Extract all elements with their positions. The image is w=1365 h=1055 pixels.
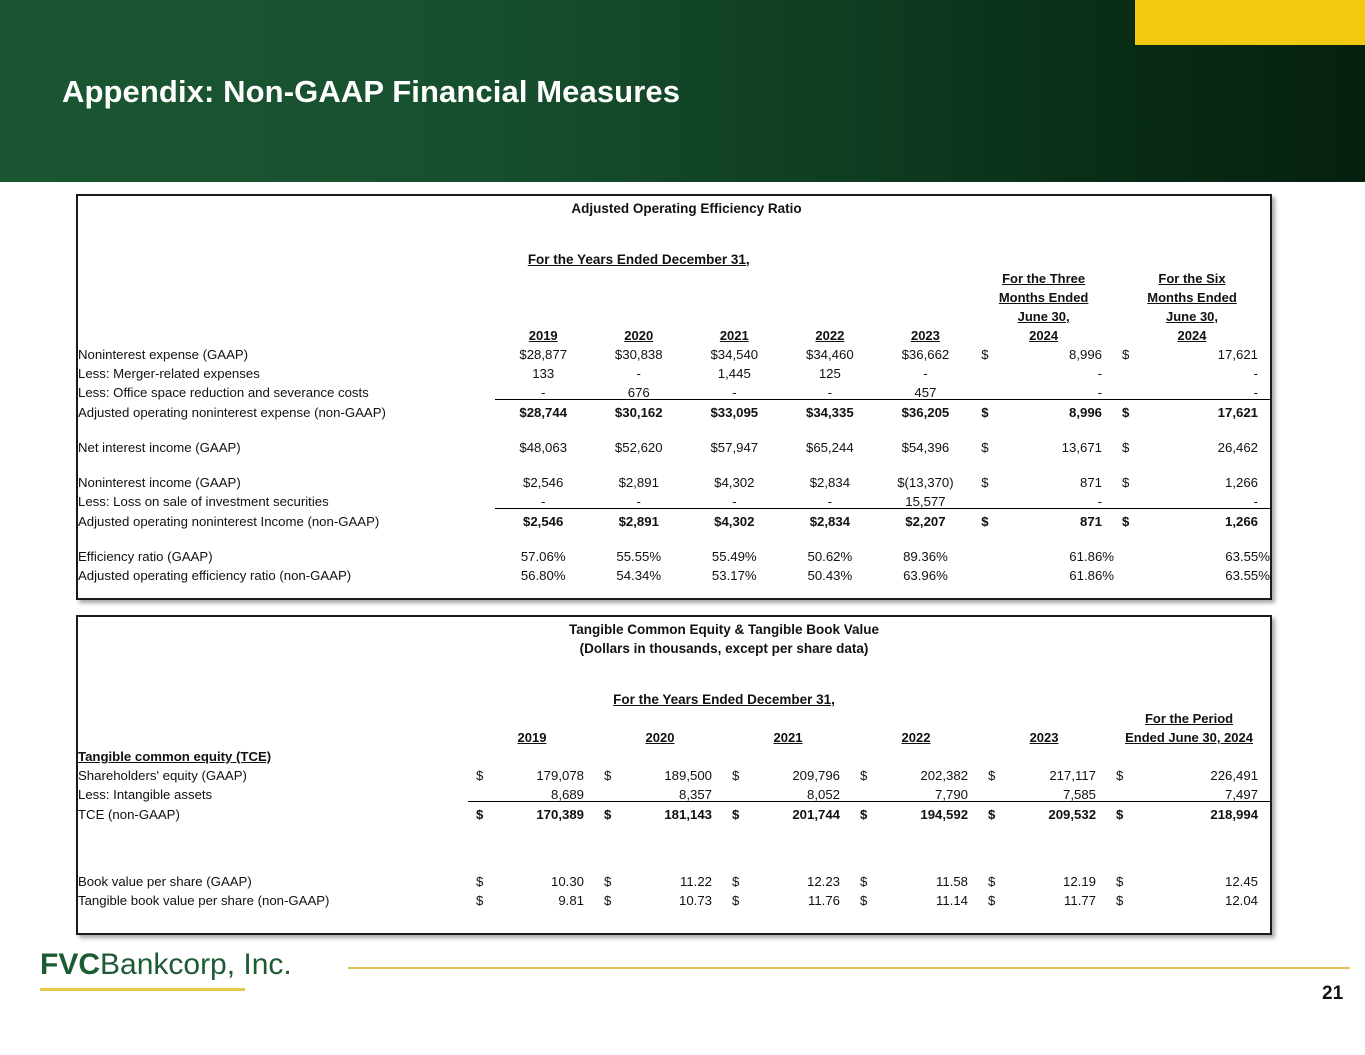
currency-symbol: $ bbox=[860, 894, 867, 907]
currency-symbol: $ bbox=[988, 808, 995, 821]
cell-value: - bbox=[973, 495, 1114, 508]
table-row: Net interest income (GAAP) $48,063 $52,6… bbox=[78, 435, 1270, 454]
cell-value: 12.45 bbox=[1108, 875, 1270, 888]
cell-2020: $ 11.22 bbox=[596, 869, 724, 888]
currency-symbol: $ bbox=[732, 894, 739, 907]
adjusted-operating-efficiency-ratio-table: Adjusted Operating Efficiency Ratio For … bbox=[76, 194, 1272, 600]
cell-2021: $ 209,796 bbox=[724, 763, 852, 782]
currency-symbol: $ bbox=[981, 441, 988, 454]
cell-value: 12.19 bbox=[980, 875, 1108, 888]
currency-symbol: $ bbox=[988, 769, 995, 782]
currency-symbol: $ bbox=[988, 894, 995, 907]
cell-2022: $ 11.58 bbox=[852, 869, 980, 888]
cell-2021: 1,445 bbox=[687, 361, 783, 380]
table1-span-header-line3: June 30, June 30, bbox=[78, 304, 1270, 323]
cell-value: 218,994 bbox=[1108, 808, 1270, 821]
currency-symbol: $ bbox=[1116, 769, 1123, 782]
period-col-header-l1: For the Period bbox=[1108, 706, 1270, 725]
cell-value: 871 bbox=[973, 476, 1114, 489]
cell-2023: $36,662 bbox=[878, 342, 974, 361]
six-month-header-l2: Months Ended bbox=[1114, 285, 1270, 304]
currency-symbol: $ bbox=[732, 875, 739, 888]
cell-value: 8,689 bbox=[468, 788, 596, 801]
cell-2020: $ 189,500 bbox=[596, 763, 724, 782]
cell-2023: 7,585 bbox=[980, 782, 1108, 802]
currency-symbol: $ bbox=[1116, 894, 1123, 907]
cell-value: 12.23 bbox=[724, 875, 852, 888]
cell-value: 13,671 bbox=[973, 441, 1114, 454]
cell-2023: 457 bbox=[878, 380, 974, 400]
cell-value: 217,117 bbox=[980, 769, 1108, 782]
cell-6mo: - bbox=[1114, 380, 1270, 400]
logo-fvc-text: FVC bbox=[40, 948, 100, 981]
row-label: Efficiency ratio (GAAP) bbox=[78, 544, 495, 563]
cell-value: 202,382 bbox=[852, 769, 980, 782]
cell-2019: $2,546 bbox=[495, 509, 591, 529]
table2-section-label-row: Tangible common equity (TCE) bbox=[78, 744, 1270, 763]
cell-2023: $ 217,117 bbox=[980, 763, 1108, 782]
row-label: Adjusted operating noninterest expense (… bbox=[78, 400, 495, 420]
cell-2020: $2,891 bbox=[591, 470, 687, 489]
currency-symbol: $ bbox=[860, 769, 867, 782]
cell-2019: - bbox=[495, 489, 591, 509]
cell-6mo: - bbox=[1114, 361, 1270, 380]
cell-value: 871 bbox=[973, 515, 1114, 528]
cell-3mo: $ 8,996 bbox=[973, 400, 1114, 420]
six-month-header-l3: June 30, bbox=[1114, 304, 1270, 323]
cell-2022: $34,460 bbox=[782, 342, 878, 361]
table-row: Less: Merger-related expenses 133 - 1,44… bbox=[78, 361, 1270, 380]
six-month-header-l1: For the Six bbox=[1114, 266, 1270, 285]
cell-value: 26,462 bbox=[1114, 441, 1270, 454]
cell-value: 17,621 bbox=[1114, 406, 1270, 419]
cell-2019: $28,877 bbox=[495, 342, 591, 361]
table2-period-header: For the Years Ended December 31, bbox=[468, 687, 980, 706]
spacer bbox=[78, 454, 1270, 470]
cell-value: 1,266 bbox=[1114, 515, 1270, 528]
cell-3mo: - bbox=[973, 489, 1114, 509]
cell-2023: $(13,370) bbox=[878, 470, 974, 489]
cell-2022: - bbox=[782, 380, 878, 400]
currency-symbol: $ bbox=[981, 348, 988, 361]
col-header-2023: 2023 bbox=[878, 323, 974, 342]
cell-2020: $2,891 bbox=[591, 509, 687, 529]
table2-period-col-line1: For the Period bbox=[78, 706, 1270, 725]
table1-span-header-line2: Months Ended Months Ended bbox=[78, 285, 1270, 304]
cell-2021: $4,302 bbox=[687, 509, 783, 529]
currency-symbol: $ bbox=[604, 894, 611, 907]
cell-2020: 8,357 bbox=[596, 782, 724, 802]
cell-2020: $52,620 bbox=[591, 435, 687, 454]
cell-value: 194,592 bbox=[852, 808, 980, 821]
cell-6mo: $ 1,266 bbox=[1114, 509, 1270, 529]
cell-value: - bbox=[1114, 495, 1270, 508]
cell-2021: $57,947 bbox=[687, 435, 783, 454]
table-row: Tangible book value per share (non-GAAP)… bbox=[78, 888, 1270, 907]
cell-2023: $54,396 bbox=[878, 435, 974, 454]
cell-2020: - bbox=[591, 361, 687, 380]
col-header-2020: 2020 bbox=[596, 725, 724, 744]
table1-year-header-row: 2019 2020 2021 2022 2023 2024 2024 bbox=[78, 323, 1270, 342]
spacer bbox=[78, 655, 1270, 671]
slide-header-band: Appendix: Non-GAAP Financial Measures bbox=[0, 0, 1365, 182]
table-row: Efficiency ratio (GAAP) 57.06% 55.55% 55… bbox=[78, 544, 1270, 563]
cell-2022: $2,834 bbox=[782, 509, 878, 529]
cell-2020: $ 10.73 bbox=[596, 888, 724, 907]
cell-2022: $ 194,592 bbox=[852, 802, 980, 822]
cell-6mo: $ 1,266 bbox=[1114, 470, 1270, 489]
cell-value: 12.04 bbox=[1108, 894, 1270, 907]
three-month-header-l1: For the Three bbox=[973, 266, 1114, 285]
row-label: Tangible book value per share (non-GAAP) bbox=[78, 888, 468, 907]
cell-2023: - bbox=[878, 361, 974, 380]
spacer bbox=[78, 231, 1270, 247]
currency-symbol: $ bbox=[1122, 406, 1129, 419]
spacer bbox=[78, 671, 1270, 687]
cell-2019: 56.80% bbox=[495, 563, 591, 582]
three-month-header-l4: 2024 bbox=[973, 323, 1114, 342]
table2-title: Tangible Common Equity & Tangible Book V… bbox=[468, 617, 980, 636]
spacer bbox=[78, 419, 1270, 435]
table1: Adjusted Operating Efficiency Ratio For … bbox=[78, 196, 1270, 582]
cell-6mo: 63.55% bbox=[1114, 544, 1270, 563]
cell-value: 8,357 bbox=[596, 788, 724, 801]
three-month-header-l2: Months Ended bbox=[973, 285, 1114, 304]
cell-3mo: $ 871 bbox=[973, 470, 1114, 489]
cell-3mo: 61.86% bbox=[973, 563, 1114, 582]
cell-2021: $34,540 bbox=[687, 342, 783, 361]
cell-3mo: $ 871 bbox=[973, 509, 1114, 529]
col-header-2021: 2021 bbox=[724, 725, 852, 744]
cell-2021: $ 12.23 bbox=[724, 869, 852, 888]
spacer bbox=[78, 528, 1270, 544]
cell-2023: 15,577 bbox=[878, 489, 974, 509]
row-label: Less: Merger-related expenses bbox=[78, 361, 495, 380]
cell-6mo: - bbox=[1114, 489, 1270, 509]
table2: Tangible Common Equity & Tangible Book V… bbox=[78, 617, 1270, 907]
cell-value: 11.76 bbox=[724, 894, 852, 907]
currency-symbol: $ bbox=[604, 875, 611, 888]
table1-title-row: Adjusted Operating Efficiency Ratio bbox=[78, 196, 1270, 215]
col-header-2019: 2019 bbox=[468, 725, 596, 744]
section-label-tce: Tangible common equity (TCE) bbox=[78, 744, 468, 763]
currency-symbol: $ bbox=[860, 875, 867, 888]
currency-symbol: $ bbox=[981, 406, 988, 419]
table2-subtitle-row: (Dollars in thousands, except per share … bbox=[78, 636, 1270, 655]
table-row: Book value per share (GAAP) $ 10.30 $ 11… bbox=[78, 869, 1270, 888]
spacer bbox=[78, 215, 1270, 231]
currency-symbol: $ bbox=[476, 769, 483, 782]
table1-span-header-line1: For the Three For the Six bbox=[78, 266, 1270, 285]
cell-value: 181,143 bbox=[596, 808, 724, 821]
cell-2019: - bbox=[495, 380, 591, 400]
cell-value: - bbox=[1114, 367, 1270, 380]
cell-3mo: 61.86% bbox=[973, 544, 1114, 563]
cell-2021: 53.17% bbox=[687, 563, 783, 582]
currency-symbol: $ bbox=[1116, 875, 1123, 888]
cell-value: 7,497 bbox=[1108, 788, 1270, 801]
cell-2020: 55.55% bbox=[591, 544, 687, 563]
table-row: Noninterest expense (GAAP) $28,877 $30,8… bbox=[78, 342, 1270, 361]
cell-value: 1,266 bbox=[1114, 476, 1270, 489]
currency-symbol: $ bbox=[604, 769, 611, 782]
row-label: Net interest income (GAAP) bbox=[78, 435, 495, 454]
cell-2019: $48,063 bbox=[495, 435, 591, 454]
col-header-2020: 2020 bbox=[591, 323, 687, 342]
cell-6mo: $ 17,621 bbox=[1114, 342, 1270, 361]
table-row-subtotal: Adjusted operating noninterest Income (n… bbox=[78, 509, 1270, 529]
cell-2023: $ 12.19 bbox=[980, 869, 1108, 888]
row-label: Book value per share (GAAP) bbox=[78, 869, 468, 888]
table-row: Less: Office space reduction and severan… bbox=[78, 380, 1270, 400]
cell-2020: $30,162 bbox=[591, 400, 687, 420]
currency-symbol: $ bbox=[1116, 808, 1123, 821]
cell-value: 10.73 bbox=[596, 894, 724, 907]
period-col-header-l2: Ended June 30, 2024 bbox=[1108, 725, 1270, 744]
currency-symbol: $ bbox=[1122, 515, 1129, 528]
cell-value: 11.22 bbox=[596, 875, 724, 888]
cell-value: 10.30 bbox=[468, 875, 596, 888]
table-row-subtotal: TCE (non-GAAP) $ 170,389 $ 181,143 $ 201… bbox=[78, 802, 1270, 822]
cell-6mo: $ 17,621 bbox=[1114, 400, 1270, 420]
cell-6mo: 63.55% bbox=[1114, 563, 1270, 582]
cell-period: 7,497 bbox=[1108, 782, 1270, 802]
page-title: Appendix: Non-GAAP Financial Measures bbox=[62, 74, 680, 110]
cell-2022: $ 202,382 bbox=[852, 763, 980, 782]
cell-value: 11.77 bbox=[980, 894, 1108, 907]
logo-underline bbox=[40, 988, 245, 991]
cell-value: 8,996 bbox=[973, 348, 1114, 361]
cell-value: 7,790 bbox=[852, 788, 980, 801]
cell-2020: 54.34% bbox=[591, 563, 687, 582]
company-logo: FVCBankcorp, Inc. bbox=[40, 948, 292, 982]
col-header-2019: 2019 bbox=[495, 323, 591, 342]
currency-symbol: $ bbox=[1122, 441, 1129, 454]
table-row: Shareholders' equity (GAAP) $ 179,078 $ … bbox=[78, 763, 1270, 782]
page-number: 21 bbox=[1322, 983, 1343, 1005]
six-month-header-l4: 2024 bbox=[1114, 323, 1270, 342]
cell-2022: $ 11.14 bbox=[852, 888, 980, 907]
cell-2020: - bbox=[591, 489, 687, 509]
spacer bbox=[78, 837, 1270, 853]
cell-2022: $34,335 bbox=[782, 400, 878, 420]
cell-value: 11.58 bbox=[852, 875, 980, 888]
cell-2023: 63.96% bbox=[878, 563, 974, 582]
cell-value: - bbox=[973, 367, 1114, 380]
spacer bbox=[78, 853, 1270, 869]
cell-2023: $2,207 bbox=[878, 509, 974, 529]
cell-2019: 133 bbox=[495, 361, 591, 380]
cell-2019: $2,546 bbox=[495, 470, 591, 489]
cell-value: 209,796 bbox=[724, 769, 852, 782]
cell-value: 7,585 bbox=[980, 788, 1108, 801]
table-row-subtotal: Adjusted operating noninterest expense (… bbox=[78, 400, 1270, 420]
table1-title: Adjusted Operating Efficiency Ratio bbox=[495, 196, 877, 215]
table2-period-header-row: For the Years Ended December 31, bbox=[78, 687, 1270, 706]
cell-value: 201,744 bbox=[724, 808, 852, 821]
cell-2019: 57.06% bbox=[495, 544, 591, 563]
cell-2022: $65,244 bbox=[782, 435, 878, 454]
cell-2023: 89.36% bbox=[878, 544, 974, 563]
three-month-header-l3: June 30, bbox=[973, 304, 1114, 323]
cell-value: - bbox=[973, 386, 1114, 399]
cell-6mo: $ 26,462 bbox=[1114, 435, 1270, 454]
cell-2021: $ 201,744 bbox=[724, 802, 852, 822]
cell-value: 8,996 bbox=[973, 406, 1114, 419]
cell-2022: 7,790 bbox=[852, 782, 980, 802]
currency-symbol: $ bbox=[860, 808, 867, 821]
row-label: Adjusted operating efficiency ratio (non… bbox=[78, 563, 495, 582]
cell-3mo: - bbox=[973, 361, 1114, 380]
row-label: Adjusted operating noninterest Income (n… bbox=[78, 509, 495, 529]
cell-2021: 8,052 bbox=[724, 782, 852, 802]
cell-2021: - bbox=[687, 489, 783, 509]
table-row: Noninterest income (GAAP) $2,546 $2,891 … bbox=[78, 470, 1270, 489]
accent-bar bbox=[1135, 0, 1365, 45]
cell-value: 17,621 bbox=[1114, 348, 1270, 361]
cell-2022: 125 bbox=[782, 361, 878, 380]
row-label: Less: Intangible assets bbox=[78, 782, 468, 802]
currency-symbol: $ bbox=[476, 894, 483, 907]
currency-symbol: $ bbox=[732, 808, 739, 821]
cell-value: 189,500 bbox=[596, 769, 724, 782]
cell-2019: $ 179,078 bbox=[468, 763, 596, 782]
tangible-common-equity-table: Tangible Common Equity & Tangible Book V… bbox=[76, 615, 1272, 935]
currency-symbol: $ bbox=[1122, 476, 1129, 489]
cell-2022: - bbox=[782, 489, 878, 509]
cell-2019: $ 9.81 bbox=[468, 888, 596, 907]
cell-3mo: - bbox=[973, 380, 1114, 400]
logo-bankcorp-text: Bankcorp, Inc. bbox=[100, 948, 292, 981]
cell-value: 9.81 bbox=[468, 894, 596, 907]
cell-2019: $ 170,389 bbox=[468, 802, 596, 822]
cell-3mo: $ 13,671 bbox=[973, 435, 1114, 454]
cell-period: $ 218,994 bbox=[1108, 802, 1270, 822]
cell-2023: $ 209,532 bbox=[980, 802, 1108, 822]
row-label: Shareholders' equity (GAAP) bbox=[78, 763, 468, 782]
cell-2020: 676 bbox=[591, 380, 687, 400]
cell-period: $ 12.04 bbox=[1108, 888, 1270, 907]
cell-2020: $ 181,143 bbox=[596, 802, 724, 822]
table-row: Adjusted operating efficiency ratio (non… bbox=[78, 563, 1270, 582]
cell-value: 8,052 bbox=[724, 788, 852, 801]
cell-3mo: $ 8,996 bbox=[973, 342, 1114, 361]
col-header-2023: 2023 bbox=[980, 725, 1108, 744]
cell-value: - bbox=[1114, 386, 1270, 399]
col-header-2022: 2022 bbox=[852, 725, 980, 744]
cell-2023: $36,205 bbox=[878, 400, 974, 420]
currency-symbol: $ bbox=[981, 476, 988, 489]
table2-subtitle: (Dollars in thousands, except per share … bbox=[468, 636, 980, 655]
cell-value: 170,389 bbox=[468, 808, 596, 821]
cell-value: 226,491 bbox=[1108, 769, 1270, 782]
table-row: Less: Intangible assets 8,689 8,357 8,05… bbox=[78, 782, 1270, 802]
currency-symbol: $ bbox=[604, 808, 611, 821]
table2-title-row: Tangible Common Equity & Tangible Book V… bbox=[78, 617, 1270, 636]
currency-symbol: $ bbox=[476, 875, 483, 888]
currency-symbol: $ bbox=[476, 808, 483, 821]
spacer bbox=[78, 821, 1270, 837]
cell-2021: $ 11.76 bbox=[724, 888, 852, 907]
currency-symbol: $ bbox=[732, 769, 739, 782]
cell-2019: $28,744 bbox=[495, 400, 591, 420]
table1-period-header: For the Years Ended December 31, bbox=[495, 247, 782, 266]
cell-2023: $ 11.77 bbox=[980, 888, 1108, 907]
cell-2021: - bbox=[687, 380, 783, 400]
col-header-2021: 2021 bbox=[687, 323, 783, 342]
col-header-2022: 2022 bbox=[782, 323, 878, 342]
cell-period: $ 226,491 bbox=[1108, 763, 1270, 782]
footer-gold-rule bbox=[348, 967, 1350, 969]
cell-2019: 8,689 bbox=[468, 782, 596, 802]
row-label: Noninterest income (GAAP) bbox=[78, 470, 495, 489]
cell-2021: $33,095 bbox=[687, 400, 783, 420]
cell-2020: $30,838 bbox=[591, 342, 687, 361]
currency-symbol: $ bbox=[981, 515, 988, 528]
cell-2022: 50.62% bbox=[782, 544, 878, 563]
row-label: Less: Loss on sale of investment securit… bbox=[78, 489, 495, 509]
cell-2022: $2,834 bbox=[782, 470, 878, 489]
row-label: TCE (non-GAAP) bbox=[78, 802, 468, 822]
table2-year-header-row: 2019 2020 2021 2022 2023 Ended June 30, … bbox=[78, 725, 1270, 744]
cell-value: 179,078 bbox=[468, 769, 596, 782]
row-label: Less: Office space reduction and severan… bbox=[78, 380, 495, 400]
table1-period-header-row: For the Years Ended December 31, bbox=[78, 247, 1270, 266]
cell-2019: $ 10.30 bbox=[468, 869, 596, 888]
currency-symbol: $ bbox=[988, 875, 995, 888]
currency-symbol: $ bbox=[1122, 348, 1129, 361]
cell-2021: 55.49% bbox=[687, 544, 783, 563]
row-label: Noninterest expense (GAAP) bbox=[78, 342, 495, 361]
cell-2021: $4,302 bbox=[687, 470, 783, 489]
cell-period: $ 12.45 bbox=[1108, 869, 1270, 888]
table-row: Less: Loss on sale of investment securit… bbox=[78, 489, 1270, 509]
cell-2022: 50.43% bbox=[782, 563, 878, 582]
cell-value: 209,532 bbox=[980, 808, 1108, 821]
cell-value: 11.14 bbox=[852, 894, 980, 907]
